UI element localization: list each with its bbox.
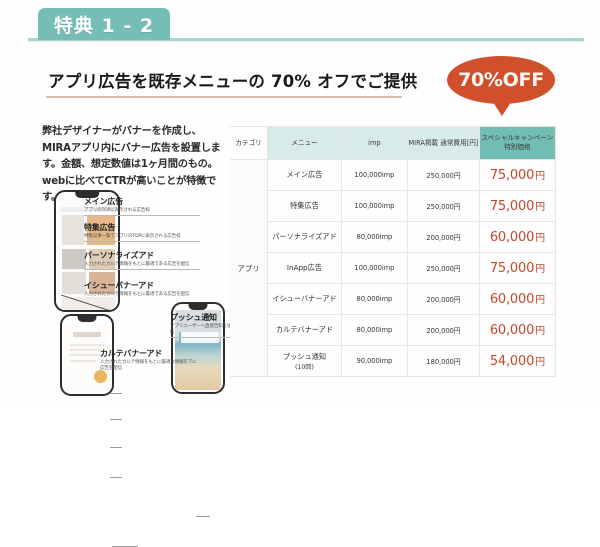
annotation-push-notification: プッシュ通知 アプリユーザーへ直接告知を送信 xyxy=(170,312,232,338)
annotation-rule xyxy=(170,337,232,338)
table-row: 特集広告 100,000imp 250,000円 75,000円 xyxy=(230,191,556,222)
text-line xyxy=(70,349,100,351)
price-unit: 円 xyxy=(535,264,545,275)
cell-cost: 250,000円 xyxy=(408,191,480,222)
cell-imp: 90,000imp xyxy=(341,346,407,377)
cell-imp: 100,000imp xyxy=(341,160,407,191)
annotation-personalized-ad: パーソナライズアド 入力されたカルテ情報をもとに最適である広告を配信 xyxy=(84,250,200,270)
annotation-title: 特集広告 xyxy=(84,222,200,233)
annotation-sub: 入力されたカルテ情報をもとに最適な情報を下に広告を配信 xyxy=(100,360,198,372)
col-header-special-line2: 特別価格 xyxy=(480,143,555,152)
cell-price: 60,000円 xyxy=(479,222,555,253)
cell-cost: 250,000円 xyxy=(408,160,480,191)
annotation-title: カルテバナーアド xyxy=(100,348,198,359)
discount-badge: 70%OFF xyxy=(447,56,555,116)
cell-menu: イシューバナーアド xyxy=(268,284,342,315)
annotation-main-ad: メイン広告 アプリのTOPに表示される広告枠 xyxy=(84,196,200,216)
table-head: カテゴリ メニュー imp MIRA掲載 通常費用[円] スペシャルキャンペーン… xyxy=(230,127,556,160)
cell-imp: 100,000imp xyxy=(341,253,407,284)
content-tile xyxy=(62,215,84,245)
cell-price: 75,000円 xyxy=(479,253,555,284)
col-header-special-line1: スペシャルキャンペーン xyxy=(480,134,555,143)
price-unit: 円 xyxy=(535,357,545,368)
price-unit: 円 xyxy=(535,295,545,306)
price-unit: 円 xyxy=(535,233,545,244)
cell-price: 54,000円 xyxy=(479,346,555,377)
cell-menu: メイン広告 xyxy=(268,160,342,191)
price-value: 60,000 xyxy=(490,292,534,307)
cell-cost: 180,000円 xyxy=(408,346,480,377)
cell-cost: 200,000円 xyxy=(408,284,480,315)
cell-imp: 80,000imp xyxy=(341,315,407,346)
leader-line xyxy=(110,393,122,394)
leader-line xyxy=(110,477,122,478)
cell-menu: プッシュ通知 (10回) xyxy=(268,346,342,377)
annotation-sub: 入力されたカルテ情報をもとに最適である広告を配信 xyxy=(84,262,200,268)
price-value: 75,000 xyxy=(490,168,534,183)
price-unit: 円 xyxy=(535,202,545,213)
table-row: プッシュ通知 (10回) 90,000imp 180,000円 54,000円 xyxy=(230,346,556,377)
price-unit: 円 xyxy=(535,326,545,337)
content-tile xyxy=(62,249,86,269)
app-logo xyxy=(73,332,101,337)
annotation-rule xyxy=(84,241,200,242)
slide-canvas: 特典 1 - 2 アプリ広告を既存メニューの 70% オフでご提供 70%OFF… xyxy=(0,0,600,403)
badge-ellipse: 70%OFF xyxy=(447,56,555,104)
col-header-cost-line1: MIRA掲載 xyxy=(408,139,438,147)
cell-cost: 200,000円 xyxy=(408,222,480,253)
cell-category: アプリ xyxy=(230,160,268,377)
title-underline xyxy=(46,96,402,98)
leader-line xyxy=(196,516,210,517)
table-row: カルテバナーアド 80,000imp 200,000円 60,000円 xyxy=(230,315,556,346)
col-header-cost: MIRA掲載 通常費用[円] xyxy=(408,127,480,160)
cell-price: 75,000円 xyxy=(479,191,555,222)
price-unit: 円 xyxy=(535,171,545,182)
table-row: InApp広告 100,000imp 250,000円 75,000円 xyxy=(230,253,556,284)
table-header-row: カテゴリ メニュー imp MIRA掲載 通常費用[円] スペシャルキャンペーン… xyxy=(230,127,556,160)
cell-imp: 100,000imp xyxy=(341,191,407,222)
annotation-rule xyxy=(84,269,200,270)
page-title: アプリ広告を既存メニューの 70% オフでご提供 xyxy=(48,68,417,92)
annotation-rule xyxy=(84,215,200,216)
cell-menu: カルテバナーアド xyxy=(268,315,342,346)
pricing-table: カテゴリ メニュー imp MIRA掲載 通常費用[円] スペシャルキャンペーン… xyxy=(230,126,556,377)
annotation-title: プッシュ通知 xyxy=(170,312,232,323)
cell-imp: 80,000imp xyxy=(341,222,407,253)
leader-line xyxy=(110,419,122,420)
annotation-sub: 入力されたカルテ情報をもとに最適である広告を配信 xyxy=(84,292,200,298)
annotation-sub: アプリのTOPに表示される広告枠 xyxy=(84,208,200,214)
col-header-category: カテゴリ xyxy=(230,127,268,160)
cell-price: 60,000円 xyxy=(479,284,555,315)
price-value: 75,000 xyxy=(490,199,534,214)
section-tab: 特典 1 - 2 xyxy=(38,8,170,40)
section-tab-label: 特典 1 - 2 xyxy=(54,11,154,38)
cell-cost: 200,000円 xyxy=(408,315,480,346)
cell-price: 60,000円 xyxy=(479,315,555,346)
price-value: 60,000 xyxy=(490,323,534,338)
table-row: アプリ メイン広告 100,000imp 250,000円 75,000円 xyxy=(230,160,556,191)
annotation-title: メイン広告 xyxy=(84,196,200,207)
price-value: 54,000 xyxy=(490,354,534,369)
cell-price: 75,000円 xyxy=(479,160,555,191)
leader-line xyxy=(110,447,122,448)
annotation-karte-banner-ad: カルテバナーアド 入力されたカルテ情報をもとに最適な情報を下に広告を配信 xyxy=(100,348,198,372)
price-value: 60,000 xyxy=(490,230,534,245)
text-line xyxy=(70,360,96,362)
col-header-imp: imp xyxy=(341,127,407,160)
cell-menu-label: プッシュ通知 xyxy=(283,352,326,361)
cell-menu: 特集広告 xyxy=(268,191,342,222)
text-line xyxy=(70,354,104,356)
annotation-title: イシューバナーアド xyxy=(84,280,200,291)
annotation-issue-banner-ad: イシューバナーアド 入力されたカルテ情報をもとに最適である広告を配信 xyxy=(84,280,200,298)
annotation-feature-ad: 特集広告 特集記事一覧でアプリのTOPに表示される広告枠 xyxy=(84,222,200,242)
annotation-sub: アプリユーザーへ直接告知を送信 xyxy=(170,324,232,336)
cell-imp: 80,000imp xyxy=(341,284,407,315)
cell-menu: InApp広告 xyxy=(268,253,342,284)
table-body: アプリ メイン広告 100,000imp 250,000円 75,000円 特集… xyxy=(230,160,556,377)
annotation-sub: 特集記事一覧でアプリのTOPに表示される広告枠 xyxy=(84,234,200,240)
cell-cost: 250,000円 xyxy=(408,253,480,284)
annotation-title: パーソナライズアド xyxy=(84,250,200,261)
cell-menu-sub: (10回) xyxy=(268,362,341,371)
price-value: 75,000 xyxy=(490,261,534,276)
col-header-cost-line2: 通常費用[円] xyxy=(440,139,478,147)
table-row: パーソナライズアド 80,000imp 200,000円 60,000円 xyxy=(230,222,556,253)
badge-label: 70%OFF xyxy=(458,69,544,91)
col-header-special: スペシャルキャンペーン 特別価格 xyxy=(479,127,555,160)
cell-menu: パーソナライズアド xyxy=(268,222,342,253)
table-row: イシューバナーアド 80,000imp 200,000円 60,000円 xyxy=(230,284,556,315)
text-line xyxy=(70,344,104,346)
content-tile xyxy=(62,272,86,294)
col-header-menu: メニュー xyxy=(268,127,342,160)
